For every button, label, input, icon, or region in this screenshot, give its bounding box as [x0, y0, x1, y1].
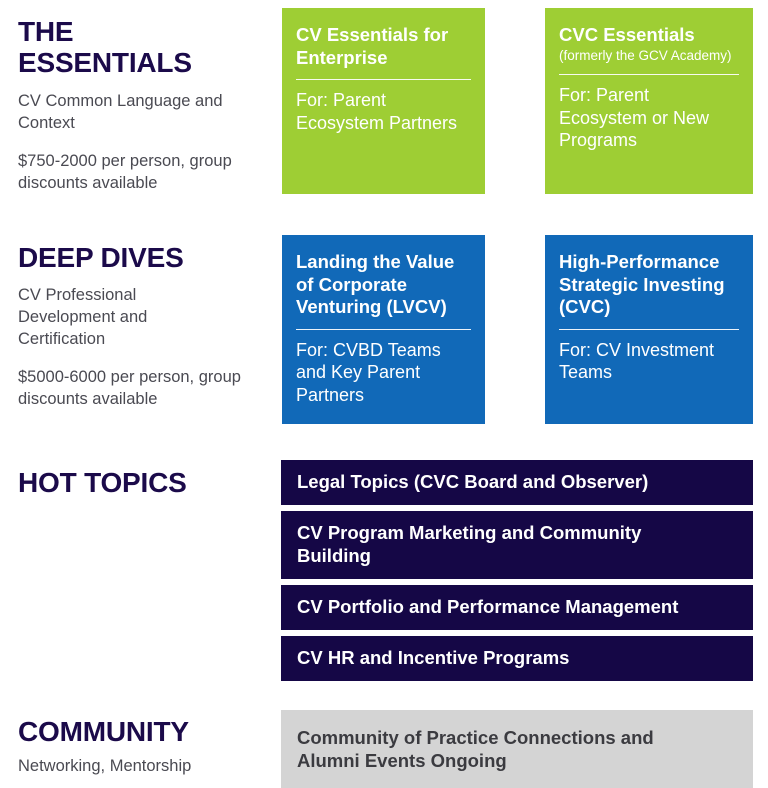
- section-essentials-text: THE ESSENTIALS CV Common Language and Co…: [18, 16, 268, 194]
- section-hottopics-text: HOT TOPICS: [18, 467, 268, 498]
- section-deepdives-text: DEEP DIVES CV Professional Development a…: [18, 242, 268, 411]
- hot-topic-label: CV Program Marketing and Community Build…: [297, 522, 717, 568]
- card-title: High-Performance Strategic Investing (CV…: [559, 251, 739, 319]
- infographic-page: THE ESSENTIALS CV Common Language and Co…: [0, 0, 768, 788]
- community-bar-label: Community of Practice Connections and Al…: [297, 726, 717, 773]
- card-audience: For: Parent Ecosystem Partners: [296, 89, 471, 134]
- card-divider: [296, 79, 471, 80]
- section-heading-deepdives: DEEP DIVES: [18, 242, 268, 273]
- card-cv-essentials-for-enterprise[interactable]: CV Essentials for Enterprise For: Parent…: [282, 8, 485, 194]
- card-cvc-essentials[interactable]: CVC Essentials (formerly the GCV Academy…: [545, 8, 753, 194]
- card-audience: For: Parent Ecosystem or New Programs: [559, 84, 739, 152]
- card-landing-the-value-lvcv[interactable]: Landing the Value of Corporate Venturing…: [282, 235, 485, 424]
- section-heading-essentials: THE ESSENTIALS: [18, 16, 228, 79]
- card-title: CV Essentials for Enterprise: [296, 24, 471, 69]
- hot-topic-bar-program-marketing[interactable]: CV Program Marketing and Community Build…: [281, 511, 753, 579]
- card-high-performance-strategic-investing-cvc[interactable]: High-Performance Strategic Investing (CV…: [545, 235, 753, 424]
- community-bar[interactable]: Community of Practice Connections and Al…: [281, 710, 753, 788]
- hot-topic-label: Legal Topics (CVC Board and Observer): [297, 471, 648, 494]
- hot-topic-label: CV Portfolio and Performance Management: [297, 596, 678, 619]
- section-subtitle-deepdives: CV Professional Development and Certific…: [18, 285, 168, 351]
- card-audience: For: CV Investment Teams: [559, 339, 739, 384]
- section-heading-hottopics: HOT TOPICS: [18, 467, 268, 498]
- card-audience: For: CVBD Teams and Key Parent Partners: [296, 339, 471, 407]
- section-heading-community: COMMUNITY: [18, 716, 268, 747]
- hot-topic-label: CV HR and Incentive Programs: [297, 647, 569, 670]
- card-note: (formerly the GCV Academy): [559, 48, 739, 65]
- card-divider: [296, 329, 471, 330]
- hot-topic-bar-legal-topics[interactable]: Legal Topics (CVC Board and Observer): [281, 460, 753, 505]
- card-divider: [559, 329, 739, 330]
- section-pricing-deepdives: $5000-6000 per person, group discounts a…: [18, 367, 268, 411]
- hot-topic-bar-hr-incentive[interactable]: CV HR and Incentive Programs: [281, 636, 753, 681]
- section-pricing-essentials: $750-2000 per person, group discounts av…: [18, 151, 268, 195]
- card-divider: [559, 74, 739, 75]
- section-subtitle-essentials: CV Common Language and Context: [18, 91, 268, 135]
- card-title: CVC Essentials: [559, 24, 739, 47]
- section-subtitle-community: Networking, Mentorship: [18, 756, 268, 778]
- section-community-text: COMMUNITY Networking, Mentorship: [18, 716, 268, 778]
- card-title: Landing the Value of Corporate Venturing…: [296, 251, 471, 319]
- hot-topic-bar-portfolio-performance[interactable]: CV Portfolio and Performance Management: [281, 585, 753, 630]
